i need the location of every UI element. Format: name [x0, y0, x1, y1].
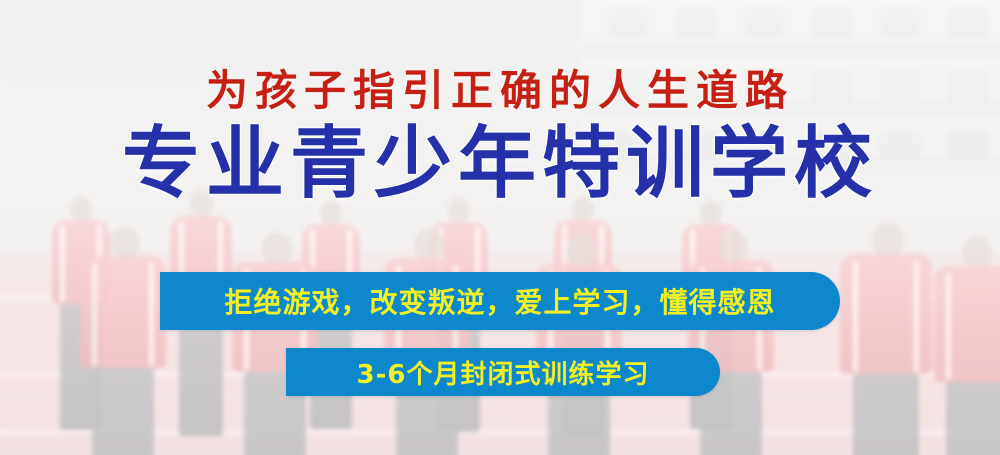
poster-main-title: 专业青少年特训学校 — [0, 124, 1000, 206]
poster-content: 为孩子指引正确的人生道路 专业青少年特训学校 拒绝游戏，改变叛逆，爱上学习，懂得… — [0, 0, 1000, 455]
ribbon-banner-benefits: 拒绝游戏，改变叛逆，爱上学习，懂得感恩 — [160, 272, 840, 330]
ribbon-banner-benefits-text: 拒绝游戏，改变叛逆，爱上学习，懂得感恩 — [224, 281, 775, 321]
promo-poster: 为孩子指引正确的人生道路 专业青少年特训学校 拒绝游戏，改变叛逆，爱上学习，懂得… — [0, 0, 1000, 455]
poster-headline: 为孩子指引正确的人生道路 — [0, 57, 1000, 118]
ribbon-banner-duration-text: 3-6个月封闭式训练学习 — [357, 354, 650, 391]
ribbon-banner-duration: 3-6个月封闭式训练学习 — [286, 348, 720, 396]
